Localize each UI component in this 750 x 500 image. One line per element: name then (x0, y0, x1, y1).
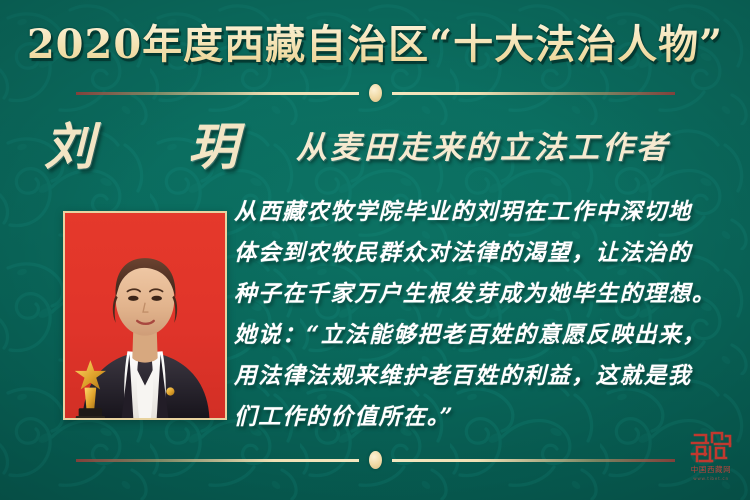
person-subtitle: 从麦田走来的立法工作者 (296, 126, 670, 170)
story-line: 种子在千家万户生根发芽成为她毕生的理想。 (234, 274, 750, 315)
story-line: 用法律法规来维护老百姓的利益，这就是我 (234, 356, 750, 397)
story-line: 她说：“立法能够把老百姓的意愿反映出来， (234, 315, 750, 356)
divider-dot (369, 451, 382, 469)
divider-bar-left (76, 459, 359, 462)
divider-bar-right (392, 459, 675, 462)
logo-name-cn: 中国西藏网 (680, 465, 742, 475)
divider-bar-left (76, 92, 359, 95)
poster-title: 2020年度西藏自治区“十大法治人物” (27, 18, 723, 72)
story-line: 体会到农牧民群众对法律的渴望，让法治的 (234, 233, 750, 274)
divider-bar-right (392, 92, 675, 95)
person-name: 刘 玥 (44, 116, 260, 178)
story-line: 们工作的价值所在。” (234, 397, 750, 438)
story-line: 从西藏农牧学院毕业的刘玥在工作中深切地 (234, 192, 750, 233)
site-logo[interactable]: 中国西藏网 www.tibet.cn (680, 430, 742, 486)
divider-top (0, 86, 750, 100)
person-photo (63, 211, 227, 420)
logo-name-en: www.tibet.cn (680, 475, 742, 482)
divider-bottom (0, 453, 750, 467)
poster-canvas: 2020年度西藏自治区“十大法治人物” 刘 玥 从麦田走来的立法工作者 (0, 0, 750, 500)
divider-dot (369, 84, 382, 102)
china-tibet-net-seal-icon (688, 430, 734, 464)
person-portrait-illustration (65, 213, 225, 418)
person-story-text: 从西藏农牧学院毕业的刘玥在工作中深切地 体会到农牧民群众对法律的渴望，让法治的 … (234, 192, 750, 438)
poster-title-area: 2020年度西藏自治区“十大法治人物” (0, 18, 750, 72)
